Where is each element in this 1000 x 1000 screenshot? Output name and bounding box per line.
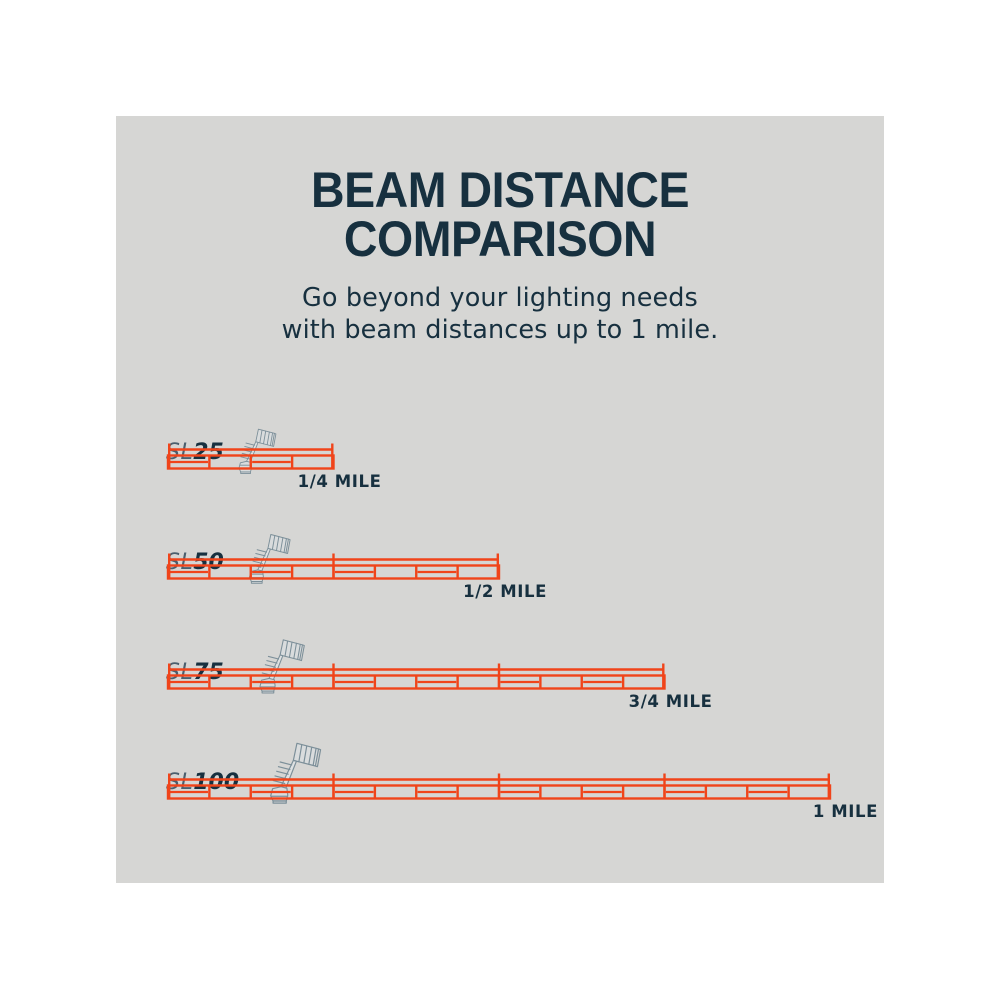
beam-distance-bar: [166, 662, 667, 692]
beam-distance-bar: [166, 772, 832, 802]
page-title-line-1: BEAM DISTANCE: [143, 166, 857, 215]
infographic-canvas: BEAM DISTANCE COMPARISON Go beyond your …: [0, 0, 1000, 1000]
comparison-row: SL50: [116, 502, 884, 612]
comparison-row: SL100: [116, 722, 884, 832]
content-panel: BEAM DISTANCE COMPARISON Go beyond your …: [116, 116, 884, 883]
subtitle-line-2: with beam distances up to 1 mile.: [116, 314, 884, 346]
beam-distance-bar: [166, 442, 336, 472]
subtitle-block: Go beyond your lighting needs with beam …: [116, 282, 884, 347]
distance-label: 1/4 MILE: [116, 474, 382, 491]
comparison-row: SL25: [116, 392, 884, 502]
headline-block: BEAM DISTANCE COMPARISON Go beyond your …: [116, 166, 884, 347]
page-title-line-2: COMPARISON: [143, 215, 857, 264]
beam-distance-bar: [166, 552, 501, 582]
distance-label: 1 MILE: [116, 804, 878, 821]
distance-label: 3/4 MILE: [116, 694, 713, 711]
subtitle-line-1: Go beyond your lighting needs: [116, 282, 884, 314]
distance-label: 1/2 MILE: [116, 584, 547, 601]
comparison-row: SL75: [116, 612, 884, 722]
